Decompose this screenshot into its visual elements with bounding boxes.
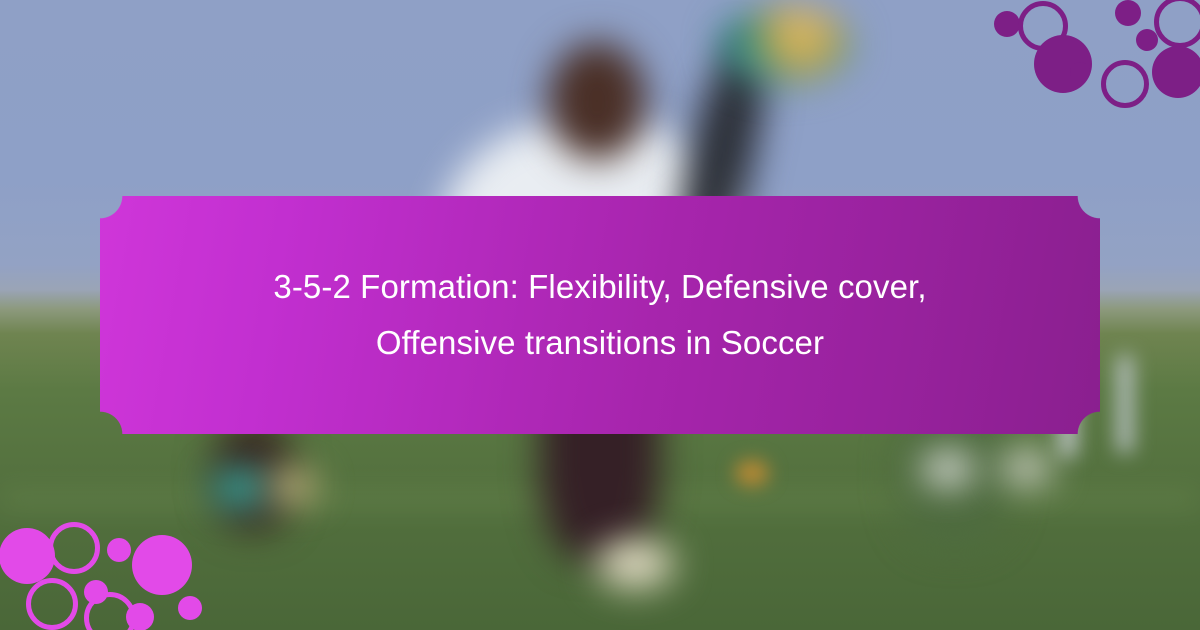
teal-shoe bbox=[212, 470, 268, 506]
deco-top-right-ring-7 bbox=[1101, 60, 1149, 108]
deco-top-right-disc-3 bbox=[1115, 0, 1141, 26]
poster-canvas: 3-5-2 Formation: Flexibility, Defensive … bbox=[0, 0, 1200, 630]
deco-bottom-left-disc-8 bbox=[178, 596, 202, 620]
deco-top-right-disc-5 bbox=[1136, 29, 1158, 51]
player-head bbox=[548, 42, 646, 160]
background-shoe-right-a bbox=[922, 452, 974, 486]
deco-bottom-left-ring-1 bbox=[48, 522, 100, 574]
deco-bottom-left-disc-2 bbox=[107, 538, 131, 562]
deco-bottom-left-disc-0 bbox=[0, 528, 55, 584]
white-shoe bbox=[596, 540, 674, 588]
soccer-ball bbox=[720, 6, 852, 84]
deco-top-right-disc-0 bbox=[994, 11, 1020, 37]
deco-top-right-disc-8 bbox=[1152, 46, 1200, 98]
deco-bottom-left-disc-3 bbox=[132, 535, 192, 595]
banner-title-text: 3-5-2 Formation: Flexibility, Defensive … bbox=[205, 259, 995, 371]
background-shoe-right-b bbox=[1000, 452, 1052, 484]
deco-bottom-left-ring-4 bbox=[26, 578, 78, 630]
cream-shoe bbox=[270, 470, 316, 502]
title-banner: 3-5-2 Formation: Flexibility, Defensive … bbox=[100, 196, 1100, 434]
training-cone bbox=[735, 460, 769, 486]
deco-top-right-disc-6 bbox=[1070, 62, 1090, 82]
background-post-right bbox=[1118, 356, 1132, 452]
